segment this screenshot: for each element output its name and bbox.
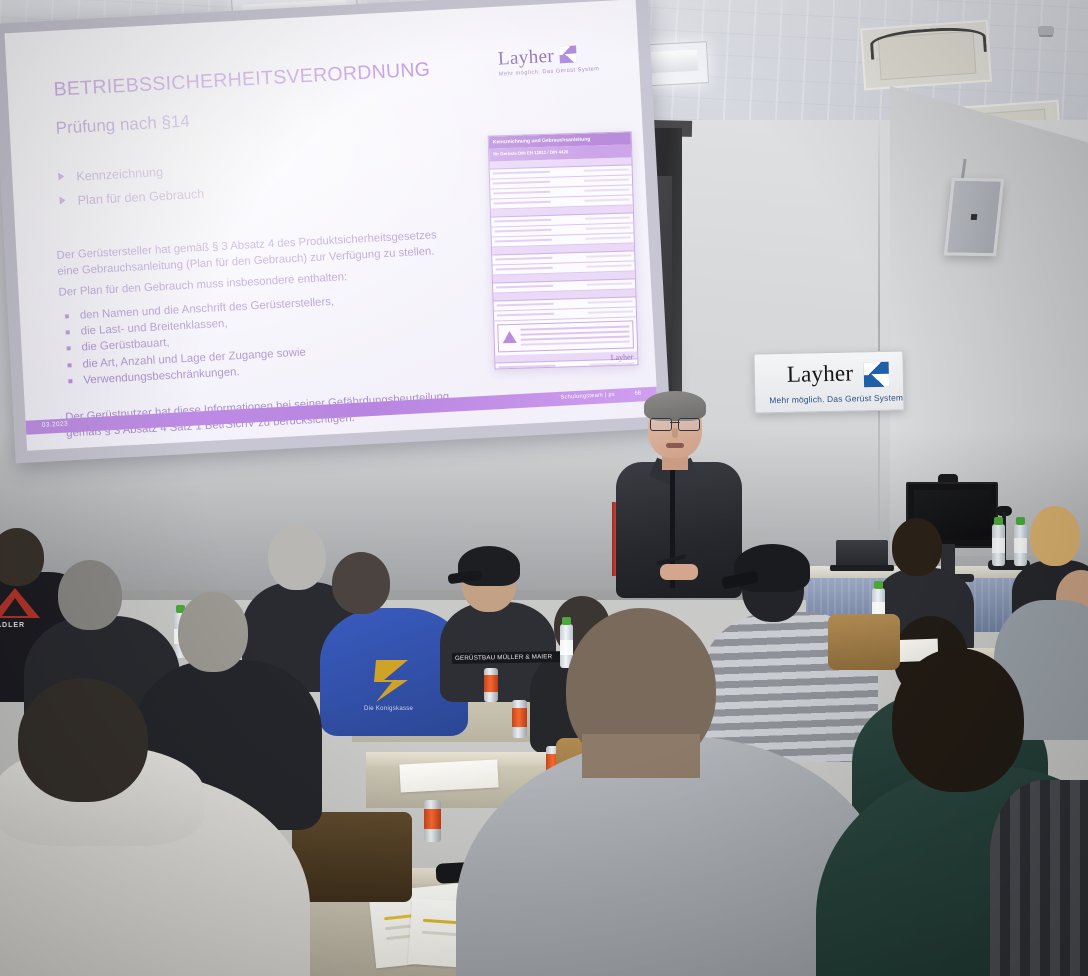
slide-title: BETRIEBSSICHERHEITSVERORDNUNG — [53, 58, 431, 101]
jacket-logo-zigzag-icon — [370, 656, 414, 704]
jacket-logo-text: Die Konigskasse — [364, 706, 413, 712]
slide-arrow-bullet: Plan für den Gebrauch — [59, 187, 204, 209]
attendee-plaid-shirt — [1000, 760, 1088, 976]
slide-layher-logo: Layher Mehr möglich. Das Gerüst System — [497, 43, 599, 77]
footer-date: 03.2023 — [42, 420, 69, 428]
zigzag-logo-svg — [370, 656, 414, 704]
jacket-logo-triangle-icon — [0, 586, 42, 625]
projection-screen: BETRIEBSSICHERHEITSVERORDNUNG Prüfung na… — [0, 0, 671, 463]
slide-arrow-bullet: Kennzeichnung — [58, 165, 163, 185]
wall-brand-sign: Layher Mehr möglich. Das Gerüst System — [753, 350, 904, 413]
fire-sprinkler-icon — [1038, 26, 1054, 35]
triangle-logo-svg — [0, 586, 42, 620]
layher-mark-icon — [864, 362, 890, 388]
attendee-head — [892, 518, 942, 576]
jacket-logo-text: ADLER — [0, 622, 25, 629]
attendee-head — [332, 552, 390, 614]
slide-dash-list: den Namen und die Anschrift des Gerüster… — [63, 287, 467, 390]
arrow-bullet-icon — [59, 196, 65, 204]
bullet-label: Plan für den Gebrauch — [77, 187, 204, 208]
attendee-head — [18, 678, 148, 802]
seminar-room-photo: BETRIEBSSICHERHEITSVERORDNUNG Prüfung na… — [0, 0, 1088, 976]
attendee-head — [1030, 506, 1080, 566]
document-warning-box — [497, 320, 634, 352]
logo-wordmark: Layher — [497, 46, 554, 70]
air-vent-diffuser — [860, 20, 992, 91]
layher-mark-icon — [559, 45, 577, 63]
attendee-grey-sweatshirt — [508, 608, 848, 976]
wall-speaker-icon — [944, 178, 1004, 256]
footer-team: Schulungsteam | ps — [560, 391, 615, 400]
warning-triangle-icon — [502, 331, 516, 343]
sign-wordmark: Layher — [787, 360, 854, 387]
sign-tagline: Mehr möglich. Das Gerüst System — [769, 392, 903, 405]
attendee-neck — [582, 734, 700, 778]
presentation-slide: BETRIEBSSICHERHEITSVERORDNUNG Prüfung na… — [5, 0, 659, 451]
attendee-head — [0, 528, 44, 586]
slide-subtitle: Prüfung nach §14 — [55, 111, 190, 138]
slide-document-thumbnail: Kennzeichnung und Gebrauchsanleitung für… — [488, 131, 639, 369]
attendee-head — [58, 560, 122, 630]
presenter-hair — [644, 391, 706, 421]
handout-paper — [399, 759, 498, 792]
attendee-blue-work-jacket: Die Konigskasse — [326, 552, 458, 722]
attendee-head — [268, 524, 326, 590]
arrow-bullet-icon — [58, 172, 64, 180]
attendee-torso — [990, 780, 1088, 976]
presenter-hands — [660, 564, 698, 580]
attendee-head — [178, 592, 248, 672]
energy-can — [424, 800, 441, 842]
attendee-white-hoodie — [0, 672, 290, 976]
document-brand: Layher — [610, 352, 633, 362]
bullet-label: Kennzeichnung — [76, 165, 163, 184]
energy-can — [484, 668, 498, 702]
